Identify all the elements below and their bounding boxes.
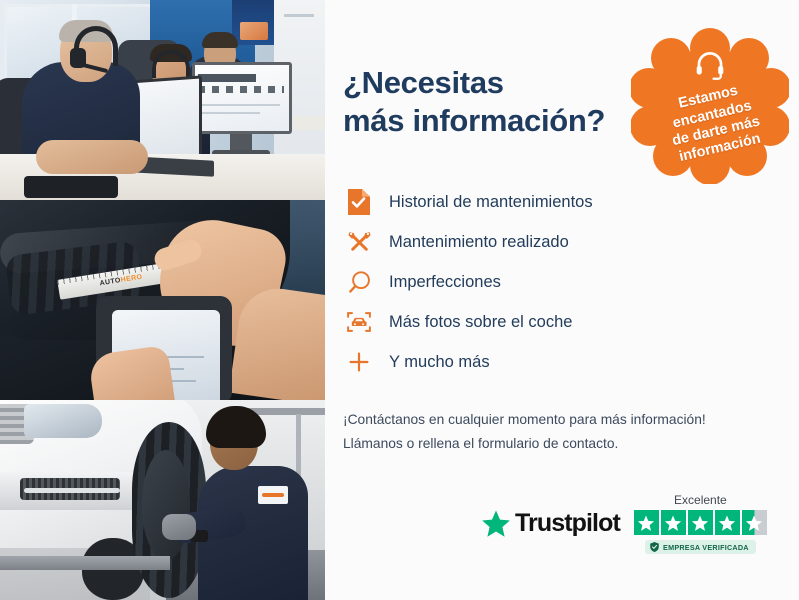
trustpilot-logo[interactable]: Trustpilot [481, 509, 620, 539]
car-photo-icon [343, 306, 375, 338]
feature-item-mantenimiento: Mantenimiento realizado [343, 223, 771, 262]
headline-line-2: más información? [343, 102, 643, 140]
feature-label: Y mucho más [389, 354, 490, 371]
trustpilot-rating[interactable]: Trustpilot Excelente [481, 493, 767, 554]
feature-item-imperfecciones: Imperfecciones [343, 263, 771, 302]
feature-item-historial: Historial de mantenimientos [343, 183, 771, 222]
shield-check-icon [650, 542, 659, 552]
feature-label: Historial de mantenimientos [389, 194, 593, 211]
trustpilot-score-block: Excelente [634, 493, 767, 554]
rating-label: Excelente [674, 493, 727, 507]
plus-icon [343, 346, 375, 378]
content-panel: ¿Necesitas más información? [325, 0, 799, 600]
mechanic-wheel-photo [0, 400, 325, 600]
magnifier-icon [343, 266, 375, 298]
status-badge: EMPRESA VERIFICADA [645, 540, 756, 554]
feature-label: Mantenimiento realizado [389, 234, 569, 251]
headline-line-1: ¿Necesitas [343, 65, 504, 100]
feature-list: Historial de mantenimientos [343, 183, 771, 382]
crossed-tools-icon [343, 226, 375, 258]
star-half [742, 510, 767, 535]
contact-text: ¡Contáctanos en cualquier momento para m… [343, 408, 771, 455]
contact-line-2: Llámanos o rellena el formulario de cont… [343, 432, 771, 456]
car-inspection-ruler-photo: AUTOHERO [0, 200, 325, 400]
star-rating [634, 510, 767, 535]
info-badge: Estamos encantados de darte más informac… [631, 26, 789, 184]
document-check-icon [343, 186, 375, 218]
page-title: ¿Necesitas más información? [343, 64, 643, 141]
information-banner: AUTOHERO ¿Nece [0, 0, 799, 600]
feature-label: Más fotos sobre el coche [389, 314, 572, 331]
star-filled [715, 510, 740, 535]
trustpilot-star-icon [481, 509, 511, 539]
feature-item-fotos: Más fotos sobre el coche [343, 303, 771, 342]
trustpilot-wordmark: Trustpilot [515, 509, 620, 538]
star-filled [634, 510, 659, 535]
star-filled [688, 510, 713, 535]
feature-label: Imperfecciones [389, 274, 501, 291]
verified-label: EMPRESA VERIFICADA [663, 543, 749, 552]
star-filled [661, 510, 686, 535]
feature-item-mas: Y mucho más [343, 343, 771, 382]
contact-line-1: ¡Contáctanos en cualquier momento para m… [343, 408, 771, 432]
call-center-agents-photo [0, 0, 325, 200]
photo-column: AUTOHERO [0, 0, 325, 600]
